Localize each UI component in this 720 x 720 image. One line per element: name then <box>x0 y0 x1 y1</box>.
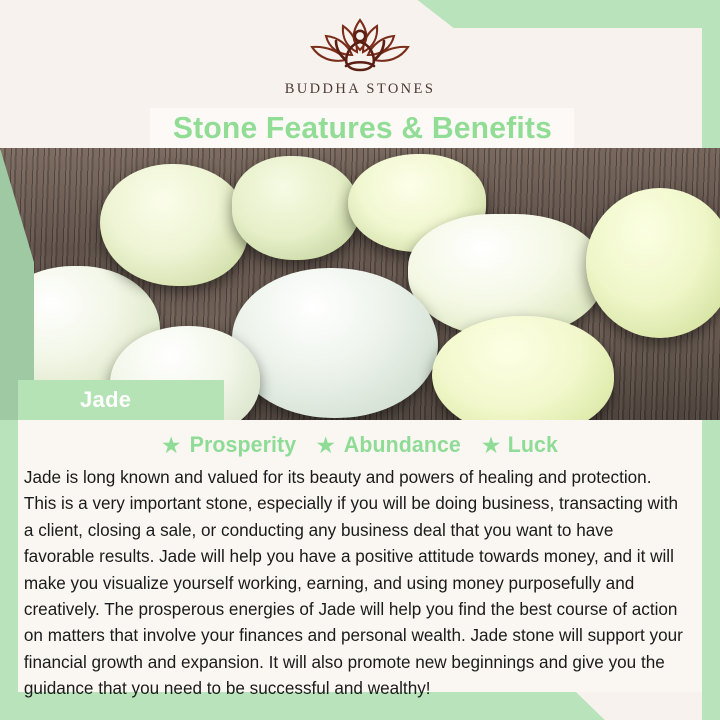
page-title: Stone Features & Benefits <box>172 110 551 146</box>
lotus-meditation-icon <box>302 14 418 80</box>
content-panel: ★ Prosperity ★ Abundance ★ Luck Jade is … <box>18 420 702 692</box>
stone-2 <box>100 164 248 286</box>
stone-3 <box>232 156 360 260</box>
brand-logo: BUDDHA STONES <box>0 14 720 106</box>
title-band: Stone Features & Benefits <box>150 108 574 148</box>
benefit-label: Abundance <box>344 432 461 458</box>
star-icon: ★ <box>161 434 182 457</box>
stone-7 <box>432 316 614 420</box>
benefit-label: Prosperity <box>189 432 296 458</box>
brand-wordmark: BUDDHA STONES <box>285 81 436 98</box>
benefits-row: ★ Prosperity ★ Abundance ★ Luck <box>18 420 702 458</box>
stone-name-band: Jade <box>18 380 224 420</box>
star-icon: ★ <box>315 434 336 457</box>
stone-description: Jade is long known and valued for its be… <box>18 458 692 702</box>
infographic-page: BUDDHA STONES Stone Features & Benefits … <box>0 0 720 720</box>
star-icon: ★ <box>481 434 502 457</box>
benefit-item-luck: ★ Luck <box>481 432 559 458</box>
benefit-label: Luck <box>508 432 558 458</box>
stone-name-label: Jade <box>80 387 131 413</box>
benefit-item-abundance: ★ Abundance <box>315 432 462 458</box>
stone-6 <box>232 268 438 418</box>
benefit-item-prosperity: ★ Prosperity <box>161 432 297 458</box>
